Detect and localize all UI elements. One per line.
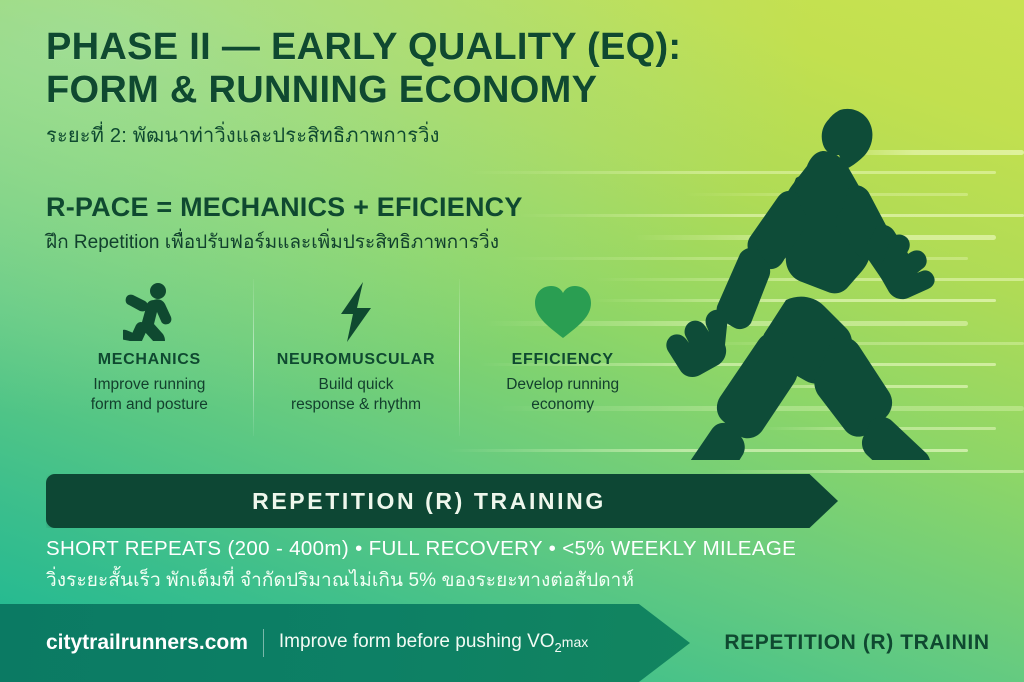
title-line-1: PHASE II — EARLY QUALITY (EQ): xyxy=(46,26,766,69)
pillar-efficiency: EFFICIENCY Develop running economy xyxy=(459,277,666,442)
rpace-block: R-PACE = MECHANICS + EFICIENCY ฝึก Repet… xyxy=(46,192,726,257)
footer-teal-panel: citytrailrunners.com Improve form before… xyxy=(0,604,690,682)
subtitle-thai: ระยะที่ 2: พัฒนาท่าวิ่งและประสิทธิภาพการ… xyxy=(46,119,766,151)
pillar-title: MECHANICS xyxy=(52,351,247,369)
footer-divider xyxy=(263,629,264,657)
pillar-description: Build quick response & rhythm xyxy=(259,375,454,415)
pillar-mechanics: MECHANICS Improve running form and postu… xyxy=(46,277,253,442)
pillar-neuromuscular: NEUROMUSCULAR Build quick response & rhy… xyxy=(253,277,460,442)
keypoints-english: SHORT REPEATS (200 - 400m) • FULL RECOVE… xyxy=(46,537,846,561)
footer-cta-label: REPETITION (R) TRAININ xyxy=(690,604,1024,682)
footer-tagline-subscript: 2 xyxy=(555,640,562,655)
pillar-desc-line-1: Build quick xyxy=(259,375,454,395)
page-title: PHASE II — EARLY QUALITY (EQ): FORM & RU… xyxy=(46,26,766,112)
pillar-desc-line-1: Improve running xyxy=(52,375,247,395)
footer-tagline-post: max xyxy=(562,634,588,650)
heart-icon xyxy=(465,277,660,347)
footer-website-link[interactable]: citytrailrunners.com xyxy=(46,631,248,655)
running-person-icon xyxy=(52,277,247,347)
footer-tagline-pre: Improve form before pushing VO xyxy=(279,631,555,652)
lightning-bolt-icon xyxy=(259,277,454,347)
banner-label: REPETITION (R) TRAINING xyxy=(252,488,606,515)
rpace-headline: R-PACE = MECHANICS + EFICIENCY xyxy=(46,192,726,223)
infographic-poster: PHASE II — EARLY QUALITY (EQ): FORM & RU… xyxy=(0,0,1024,682)
pillar-desc-line-2: economy xyxy=(465,395,660,415)
pillars-row: MECHANICS Improve running form and postu… xyxy=(46,277,666,442)
title-line-2: FORM & RUNNING ECONOMY xyxy=(46,69,766,112)
pillar-title: NEUROMUSCULAR xyxy=(259,351,454,369)
footer-tagline: Improve form before pushing VO2max xyxy=(279,631,588,655)
runner-silhouette-icon xyxy=(636,104,1008,460)
keypoints-thai: วิ่งระยะสั้นเร็ว พักเต็มที่ จำกัดปริมาณไ… xyxy=(46,565,846,595)
keypoints-block: SHORT REPEATS (200 - 400m) • FULL RECOVE… xyxy=(46,537,846,595)
pillar-description: Develop running economy xyxy=(465,375,660,415)
pillar-desc-line-2: form and posture xyxy=(52,395,247,415)
repetition-training-banner: REPETITION (R) TRAINING xyxy=(46,474,838,528)
pillar-title: EFFICIENCY xyxy=(465,351,660,369)
rpace-subtitle-thai: ฝึก Repetition เพื่อปรับฟอร์มและเพิ่มประ… xyxy=(46,227,726,257)
header-block: PHASE II — EARLY QUALITY (EQ): FORM & RU… xyxy=(46,26,766,151)
pillar-description: Improve running form and posture xyxy=(52,375,247,415)
pillar-desc-line-2: response & rhythm xyxy=(259,395,454,415)
pillar-desc-line-1: Develop running xyxy=(465,375,660,395)
footer-bar: REPETITION (R) TRAININ citytrailrunners.… xyxy=(0,604,1024,682)
